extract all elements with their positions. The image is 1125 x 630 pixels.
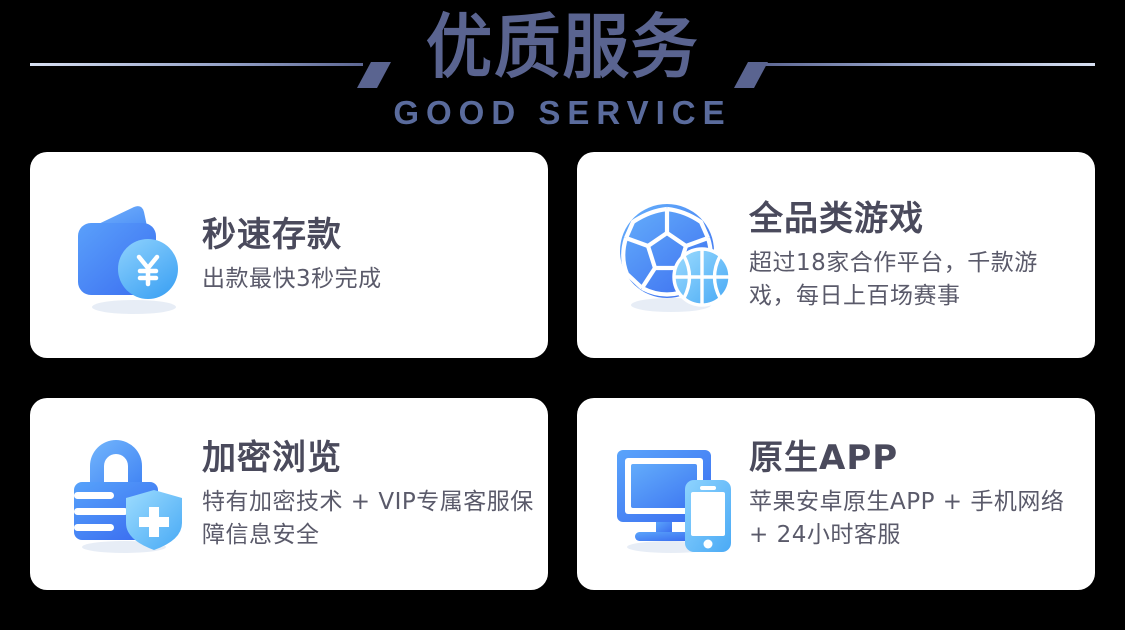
feature-card-encryption[interactable]: 加密浏览 特有加密技术 + VIP专属客服保障信息安全 [30,398,548,590]
lock-shield-icon [62,428,194,560]
card-title: 秒速存款 [202,214,382,256]
card-text: 秒速存款 出款最快3秒完成 [194,214,382,296]
card-subtitle: 超过18家合作平台，千款游戏，每日上百场赛事 [749,247,1079,313]
card-text: 加密浏览 特有加密技术 + VIP专属客服保障信息安全 [194,437,542,552]
card-title: 加密浏览 [202,437,542,479]
card-text: 全品类游戏 超过18家合作平台，千款游戏，每日上百场赛事 [741,198,1079,313]
feature-card-grid: 秒速存款 出款最快3秒完成 [30,152,1095,590]
page-title: 优质服务 [28,8,1097,86]
page-header: 优质服务 GOOD SERVICE [0,0,1125,148]
feature-card-deposit[interactable]: 秒速存款 出款最快3秒完成 [30,152,548,358]
soccer-basketball-icon [609,189,741,321]
card-subtitle: 出款最快3秒完成 [202,263,382,296]
feature-card-games[interactable]: 全品类游戏 超过18家合作平台，千款游戏，每日上百场赛事 [577,152,1095,358]
card-title: 全品类游戏 [749,198,1079,240]
card-title: 原生APP [749,437,1079,479]
monitor-phone-icon [609,428,741,560]
page-subtitle: GOOD SERVICE [0,95,1125,131]
card-subtitle: 特有加密技术 + VIP专属客服保障信息安全 [202,486,542,552]
feature-card-native-app[interactable]: 原生APP 苹果安卓原生APP + 手机网络 + 24小时客服 [577,398,1095,590]
card-subtitle: 苹果安卓原生APP + 手机网络 + 24小时客服 [749,486,1079,552]
wallet-coin-icon [62,189,194,321]
card-text: 原生APP 苹果安卓原生APP + 手机网络 + 24小时客服 [741,437,1079,552]
